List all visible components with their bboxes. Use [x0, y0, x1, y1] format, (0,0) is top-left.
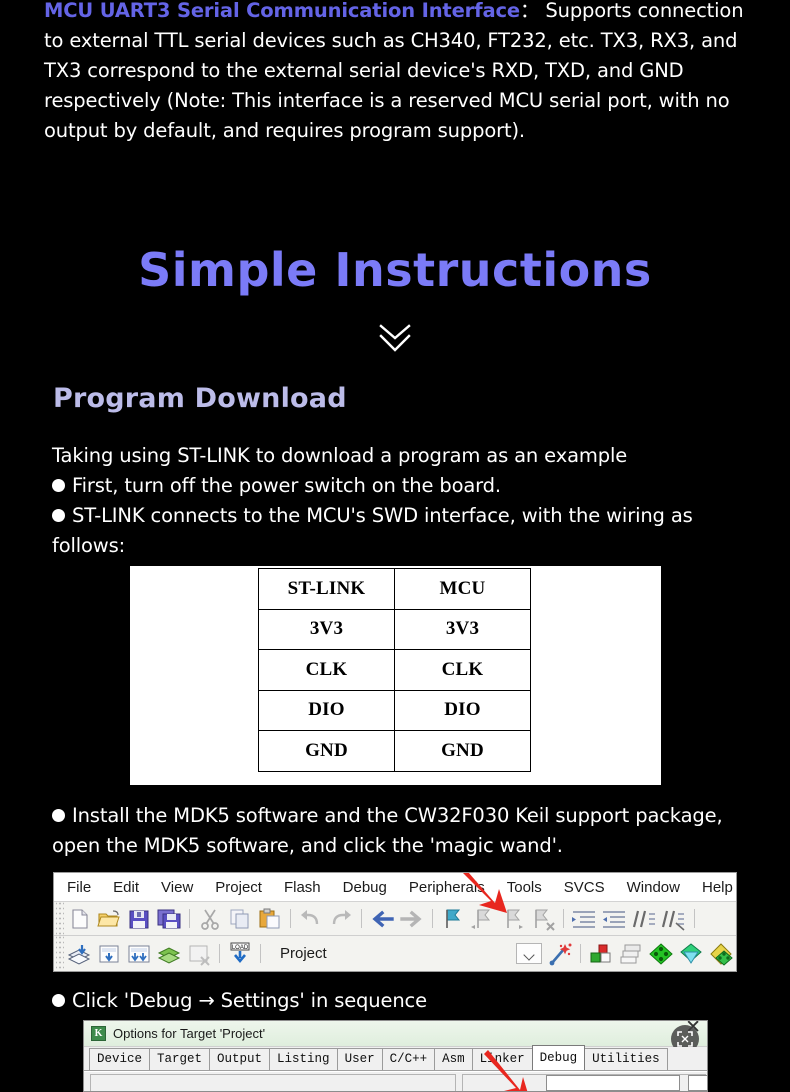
menu-item-flash[interactable]: Flash: [284, 879, 321, 896]
manage-multi-project-icon[interactable]: [617, 941, 645, 967]
menu-item-view[interactable]: View: [161, 879, 193, 896]
pack-installer-icon[interactable]: [677, 941, 705, 967]
svg-text:LOAD: LOAD: [232, 945, 249, 951]
list-item: Install the MDK5 software and the CW32F0…: [52, 801, 752, 861]
toolbar-separator: [694, 909, 695, 928]
column-header-stlink: ST-LINK: [259, 569, 395, 610]
table-header-row: ST-LINK MCU: [259, 569, 531, 610]
keil-menu-bar[interactable]: File Edit View Project Flash Debug Perip…: [54, 873, 736, 902]
list-item-label: Install the MDK5 software and the CW32F0…: [52, 804, 723, 857]
instructions-intro-line: Taking using ST-LINK to download a progr…: [52, 441, 752, 471]
toolbar-separator: [189, 909, 190, 928]
bookmark-toggle-icon[interactable]: [439, 906, 467, 932]
target-combo-dropdown[interactable]: [516, 943, 542, 964]
dialog-title-bar: K Options for Target 'Project' ✕: [84, 1021, 707, 1047]
target-selector-label: Project: [280, 945, 327, 962]
cell-stlink: GND: [259, 731, 395, 772]
comment-icon[interactable]: [630, 906, 658, 932]
options-dialog-screenshot: K Options for Target 'Project' ✕ Device …: [83, 1020, 708, 1092]
toolbar-separator: [580, 944, 581, 963]
dialog-title: Options for Target 'Project': [113, 1026, 265, 1041]
toolbar-grip[interactable]: [56, 902, 64, 935]
list-item: First, turn off the power switch on the …: [52, 471, 752, 501]
load-icon[interactable]: LOAD: [226, 941, 254, 967]
build-file-icon[interactable]: [65, 941, 93, 967]
settings-group-left: [90, 1074, 456, 1092]
bullet-icon: [52, 479, 65, 492]
toolbar-separator: [361, 909, 362, 928]
table-row: DIO DIO: [259, 690, 531, 731]
paste-icon[interactable]: [256, 906, 284, 932]
tab-target[interactable]: Target: [149, 1048, 210, 1070]
menu-item-peripherals[interactable]: Peripherals: [409, 879, 485, 896]
keil-edit-toolbar: [54, 902, 736, 936]
save-icon[interactable]: [125, 906, 153, 932]
list-item-label: ST-LINK connects to the MCU's SWD interf…: [52, 504, 693, 557]
pin-mapping-card: ST-LINK MCU 3V3 3V3 CLK CLK DIO DIO GND: [130, 566, 661, 785]
manage-packs-icon[interactable]: [707, 941, 735, 967]
tab-listing[interactable]: Listing: [269, 1048, 338, 1070]
menu-item-window[interactable]: Window: [627, 879, 680, 896]
tab-debug[interactable]: Debug: [532, 1045, 586, 1070]
tab-device[interactable]: Device: [89, 1048, 150, 1070]
settings-button-box: [688, 1075, 708, 1091]
open-folder-icon[interactable]: [95, 906, 123, 932]
toolbar-separator: [432, 909, 433, 928]
list-item: ST-LINK connects to the MCU's SWD interf…: [52, 501, 752, 561]
instructions-text-block: Taking using ST-LINK to download a progr…: [52, 441, 752, 561]
stop-build-icon[interactable]: [185, 941, 213, 967]
dialog-body: [84, 1071, 707, 1091]
tab-utilities[interactable]: Utilities: [584, 1048, 668, 1070]
cell-stlink: CLK: [259, 650, 395, 691]
tab-asm[interactable]: Asm: [434, 1048, 473, 1070]
build-target-icon[interactable]: [95, 941, 123, 967]
list-item-label: First, turn off the power switch on the …: [72, 474, 501, 497]
bullet-icon: [52, 509, 65, 522]
redo-icon[interactable]: [327, 906, 355, 932]
menu-item-tools[interactable]: Tools: [507, 879, 542, 896]
copy-icon[interactable]: [226, 906, 254, 932]
section-title: Program Download: [53, 383, 347, 414]
toolbar-separator: [219, 944, 220, 963]
table-row: CLK CLK: [259, 650, 531, 691]
menu-item-svcs[interactable]: SVCS: [564, 879, 605, 896]
menu-item-project[interactable]: Project: [215, 879, 262, 896]
indent-icon[interactable]: [570, 906, 598, 932]
keil-build-toolbar: LOAD Project: [54, 936, 736, 971]
intro-lead-label: MCU UART3 Serial Communication Interface: [44, 0, 520, 22]
bookmark-clear-icon[interactable]: [529, 906, 557, 932]
save-all-icon[interactable]: [155, 906, 183, 932]
driver-select-field: [546, 1075, 680, 1091]
table-row: GND GND: [259, 731, 531, 772]
cell-stlink: DIO: [259, 690, 395, 731]
keil-toolbar-screenshot: File Edit View Project Flash Debug Perip…: [53, 872, 737, 972]
new-component-icon[interactable]: [647, 941, 675, 967]
column-header-mcu: MCU: [395, 569, 531, 610]
cell-mcu: 3V3: [395, 609, 531, 650]
menu-item-file[interactable]: File: [67, 879, 91, 896]
undo-icon[interactable]: [297, 906, 325, 932]
table-row: 3V3 3V3: [259, 609, 531, 650]
list-item-label: Click 'Debug → Settings' in sequence: [72, 989, 427, 1012]
bookmark-prev-icon[interactable]: [469, 906, 497, 932]
cell-mcu: CLK: [395, 650, 531, 691]
chevron-double-down-icon: [0, 322, 790, 360]
cell-stlink: 3V3: [259, 609, 395, 650]
menu-item-debug[interactable]: Debug: [343, 879, 387, 896]
toolbar-separator: [563, 909, 564, 928]
pin-mapping-table: ST-LINK MCU 3V3 3V3 CLK CLK DIO DIO GND: [258, 568, 531, 772]
magic-wand-icon[interactable]: [546, 941, 574, 967]
tab-output[interactable]: Output: [209, 1048, 270, 1070]
rebuild-all-icon[interactable]: [125, 941, 153, 967]
intro-paragraph: MCU UART3 Serial Communication Interface…: [44, 0, 750, 146]
bookmark-next-icon[interactable]: [499, 906, 527, 932]
dialog-tab-strip: Device Target Output Listing User C/C++ …: [84, 1047, 707, 1071]
tab-c-cpp[interactable]: C/C++: [382, 1048, 436, 1070]
toolbar-grip[interactable]: [56, 936, 64, 971]
cut-icon[interactable]: [196, 906, 224, 932]
bullet-icon: [52, 809, 65, 822]
keil-uvision-icon: K: [91, 1026, 106, 1041]
outdent-icon[interactable]: [600, 906, 628, 932]
page-title: Simple Instructions: [0, 243, 790, 297]
batch-build-icon[interactable]: [155, 941, 183, 967]
cell-mcu: DIO: [395, 690, 531, 731]
toolbar-separator: [260, 944, 261, 963]
navigate-back-icon[interactable]: [368, 906, 396, 932]
tab-user[interactable]: User: [337, 1048, 383, 1070]
page-root: MCU UART3 Serial Communication Interface…: [0, 0, 790, 1092]
list-item: Click 'Debug → Settings' in sequence: [52, 986, 752, 1016]
menu-item-edit[interactable]: Edit: [113, 879, 139, 896]
navigate-forward-icon[interactable]: [398, 906, 426, 932]
menu-item-help[interactable]: Help: [702, 879, 733, 896]
uncomment-icon[interactable]: [660, 906, 688, 932]
toolbar-separator: [290, 909, 291, 928]
new-file-icon[interactable]: [65, 906, 93, 932]
bullet-icon: [52, 994, 65, 1007]
manage-runtime-icon[interactable]: [587, 941, 615, 967]
tab-linker[interactable]: Linker: [472, 1048, 533, 1070]
cell-mcu: GND: [395, 731, 531, 772]
